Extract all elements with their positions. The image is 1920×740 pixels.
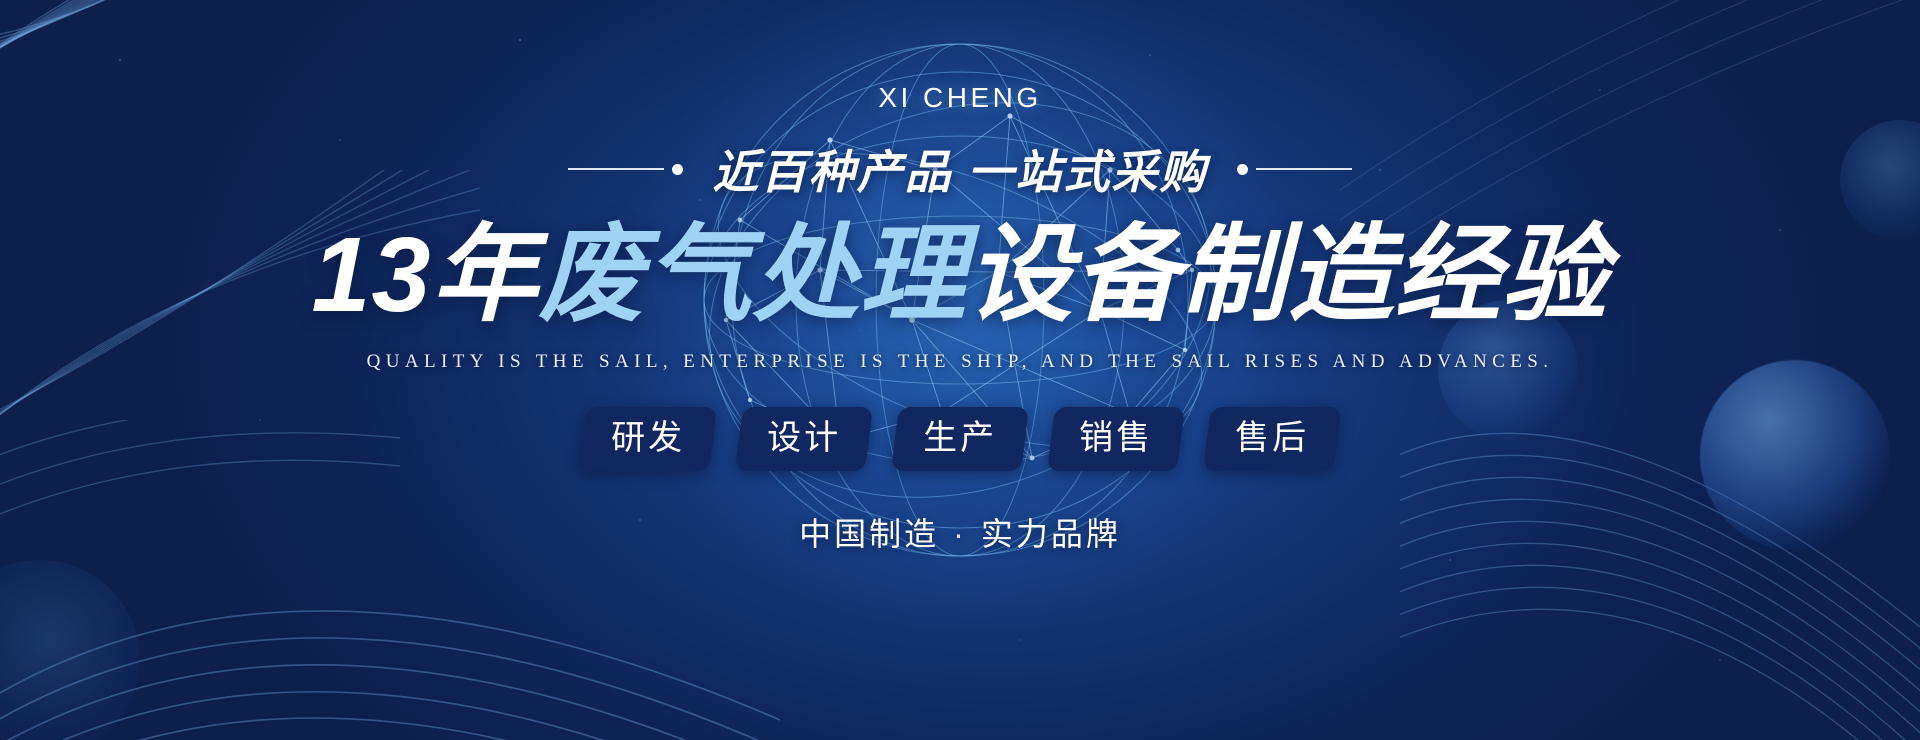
headline-part-years: 13年 [312,216,539,334]
subtitle-row: 近百种产品 一站式采购 [568,136,1353,202]
footer-slogan-left: 中国制造 [799,516,939,552]
right-rule-dot [1237,164,1248,175]
service-pill-production-label: 生产 [923,418,997,458]
right-rule-bar [1256,168,1352,170]
english-tagline: QUALITY IS THE SAIL, ENTERPRISE IS THE S… [367,351,1554,373]
service-pill-rd-label: 研发 [611,418,685,458]
service-pill-rd[interactable]: 研发 [579,407,717,471]
service-pill-sales-label: 销售 [1079,418,1153,458]
service-pill-list: 研发 设计 生产 销售 售后 [583,407,1337,471]
banner-content: XI CHENG 近百种产品 一站式采购 13年废气处理设备制造经验 QUALI… [0,0,1920,740]
service-pill-design[interactable]: 设计 [735,407,873,471]
service-pill-sales[interactable]: 销售 [1047,407,1185,471]
hero-banner: XI CHENG 近百种产品 一站式采购 13年废气处理设备制造经验 QUALI… [0,0,1920,740]
left-rule-dot [672,164,683,175]
service-pill-aftersales[interactable]: 售后 [1203,407,1341,471]
footer-slogan-right: 实力品牌 [981,516,1121,552]
service-pill-production[interactable]: 生产 [891,407,1029,471]
left-rule-decoration [568,164,683,175]
footer-slogan: 中国制造·实力品牌 [799,509,1121,555]
service-pill-design-label: 设计 [767,418,841,458]
headline-part-rest: 设备制造经验 [966,216,1608,334]
brand-latin-name: XI CHENG [878,82,1041,114]
headline-part-highlight: 废气处理 [538,216,966,334]
headline: 13年废气处理设备制造经验 [312,216,1609,335]
footer-slogan-separator: · [953,516,967,552]
right-rule-decoration [1237,164,1352,175]
subtitle-text: 近百种产品 一站式采购 [713,136,1208,202]
left-rule-bar [568,168,664,170]
service-pill-aftersales-label: 售后 [1235,418,1309,458]
